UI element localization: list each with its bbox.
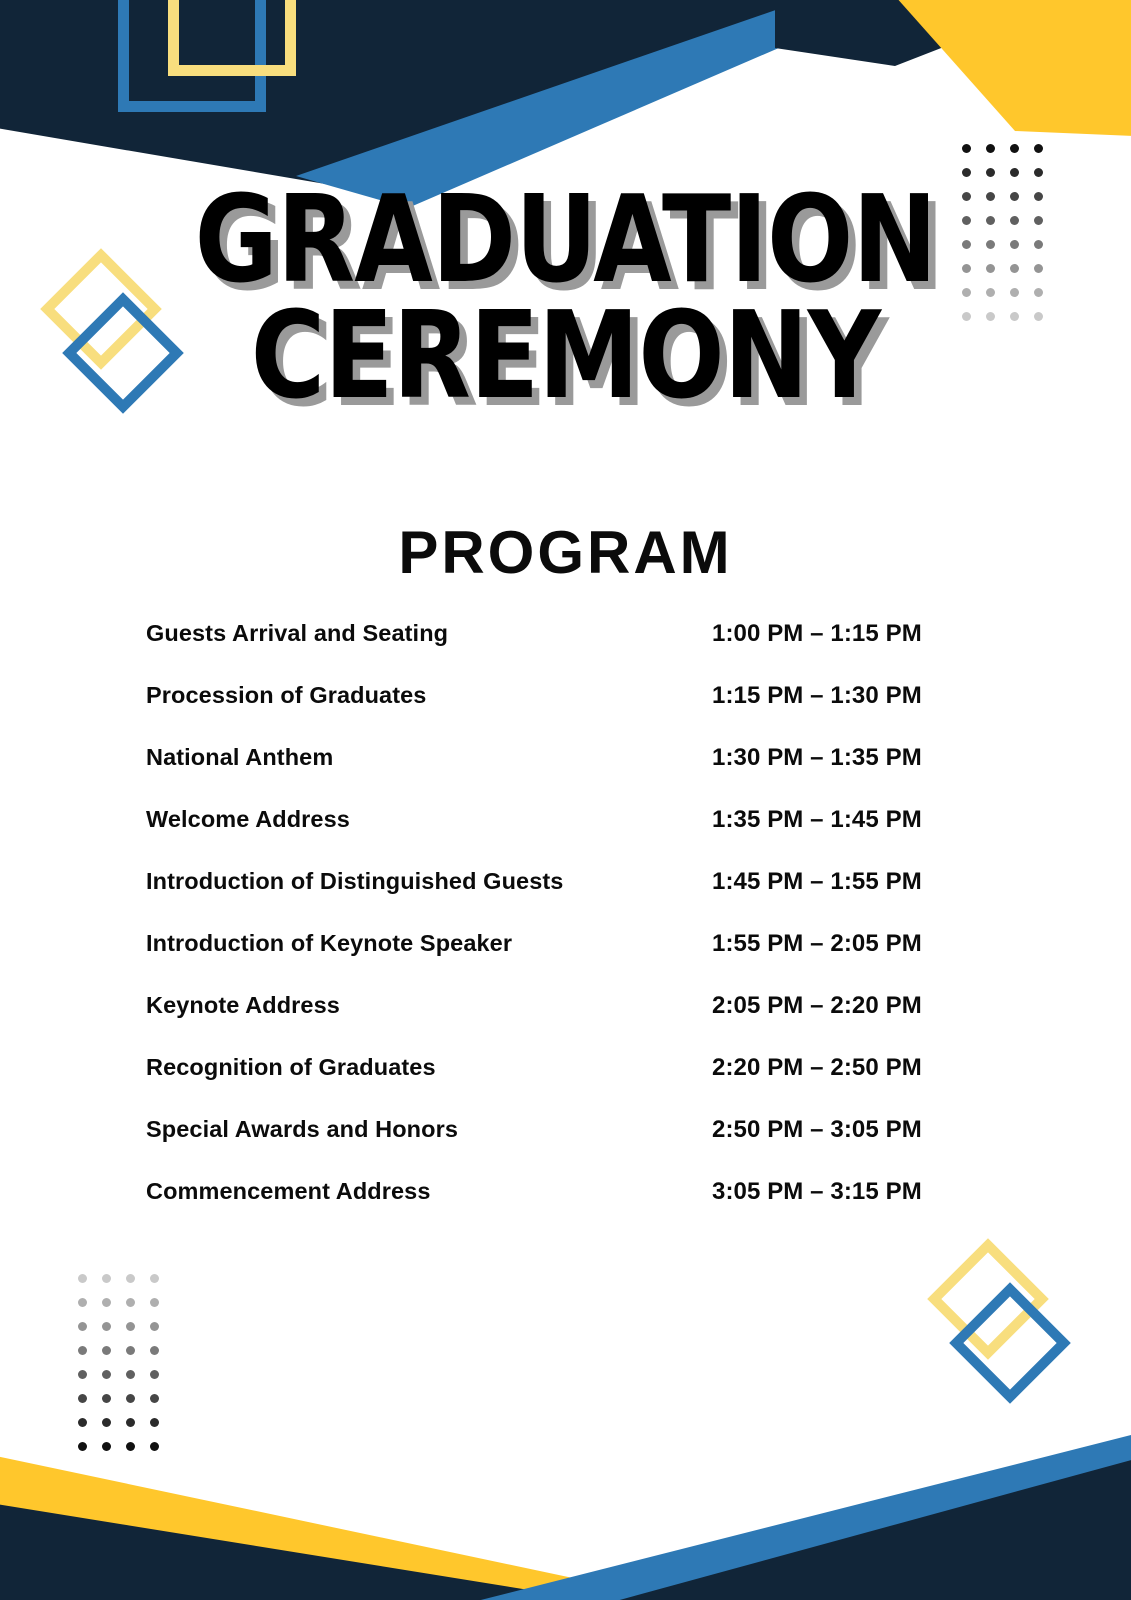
schedule-time: 2:20 PM – 2:50 PM: [712, 1054, 966, 1082]
schedule-activity: Guests Arrival and Seating: [146, 620, 712, 647]
title-line-2: CEREMONY: [34, 302, 1097, 412]
dot: [126, 1322, 150, 1346]
dot: [102, 1370, 126, 1394]
dot: [102, 1394, 126, 1418]
dot: [78, 1418, 102, 1442]
dot: [126, 1418, 150, 1442]
program-schedule: Guests Arrival and Seating1:00 PM – 1:15…: [146, 620, 966, 1240]
section-heading: PROGRAM: [0, 518, 1131, 587]
dot: [150, 1298, 174, 1322]
dot: [78, 1370, 102, 1394]
dot: [1034, 144, 1058, 168]
dot: [78, 1442, 102, 1466]
schedule-row: Welcome Address1:35 PM – 1:45 PM: [146, 806, 966, 868]
dot: [150, 1394, 174, 1418]
title-line-1: GRADUATION: [34, 186, 1097, 296]
dot: [126, 1370, 150, 1394]
schedule-row: Introduction of Distinguished Guests1:45…: [146, 868, 966, 930]
poster-canvas: GRADUATION CEREMONY PROGRAM Guests Arriv…: [0, 0, 1131, 1600]
schedule-time: 1:00 PM – 1:15 PM: [712, 620, 966, 648]
dot: [78, 1322, 102, 1346]
dot: [102, 1418, 126, 1442]
schedule-time: 1:15 PM – 1:30 PM: [712, 682, 966, 710]
dot: [150, 1418, 174, 1442]
dot: [962, 144, 986, 168]
page-title: GRADUATION CEREMONY: [0, 186, 1131, 413]
dot: [150, 1274, 174, 1298]
schedule-row: Introduction of Keynote Speaker1:55 PM –…: [146, 930, 966, 992]
right-diamond-motif: [935, 1248, 1055, 1428]
schedule-time: 1:55 PM – 2:05 PM: [712, 930, 966, 958]
schedule-row: Guests Arrival and Seating1:00 PM – 1:15…: [146, 620, 966, 682]
schedule-time: 2:05 PM – 2:20 PM: [712, 992, 966, 1020]
dot: [78, 1394, 102, 1418]
schedule-activity: Commencement Address: [146, 1178, 712, 1205]
dot: [126, 1442, 150, 1466]
dot: [986, 144, 1010, 168]
dot: [78, 1274, 102, 1298]
schedule-activity: Special Awards and Honors: [146, 1116, 712, 1143]
dot: [126, 1394, 150, 1418]
dot: [102, 1322, 126, 1346]
schedule-row: Commencement Address3:05 PM – 3:15 PM: [146, 1178, 966, 1240]
dot: [126, 1274, 150, 1298]
schedule-time: 1:45 PM – 1:55 PM: [712, 868, 966, 896]
dot: [126, 1346, 150, 1370]
dot: [78, 1298, 102, 1322]
dot: [102, 1274, 126, 1298]
dot: [102, 1442, 126, 1466]
schedule-activity: Welcome Address: [146, 806, 712, 833]
schedule-time: 2:50 PM – 3:05 PM: [712, 1116, 966, 1144]
schedule-activity: Keynote Address: [146, 992, 712, 1019]
schedule-row: Special Awards and Honors2:50 PM – 3:05 …: [146, 1116, 966, 1178]
dot-grid-bottom-left: [78, 1274, 174, 1466]
schedule-row: National Anthem1:30 PM – 1:35 PM: [146, 744, 966, 806]
dot: [150, 1346, 174, 1370]
schedule-activity: National Anthem: [146, 744, 712, 771]
schedule-row: Procession of Graduates1:15 PM – 1:30 PM: [146, 682, 966, 744]
dot: [150, 1370, 174, 1394]
schedule-time: 1:30 PM – 1:35 PM: [712, 744, 966, 772]
dot: [126, 1298, 150, 1322]
schedule-row: Recognition of Graduates2:20 PM – 2:50 P…: [146, 1054, 966, 1116]
schedule-time: 1:35 PM – 1:45 PM: [712, 806, 966, 834]
schedule-activity: Procession of Graduates: [146, 682, 712, 709]
dot: [102, 1298, 126, 1322]
square-outline-yellow-icon: [168, 0, 296, 76]
dot: [102, 1346, 126, 1370]
dot: [150, 1322, 174, 1346]
dot: [150, 1442, 174, 1466]
dot: [78, 1346, 102, 1370]
schedule-time: 3:05 PM – 3:15 PM: [712, 1178, 966, 1206]
schedule-activity: Introduction of Keynote Speaker: [146, 930, 712, 957]
schedule-activity: Introduction of Distinguished Guests: [146, 868, 712, 895]
schedule-row: Keynote Address2:05 PM – 2:20 PM: [146, 992, 966, 1054]
dot: [1010, 144, 1034, 168]
schedule-activity: Recognition of Graduates: [146, 1054, 712, 1081]
